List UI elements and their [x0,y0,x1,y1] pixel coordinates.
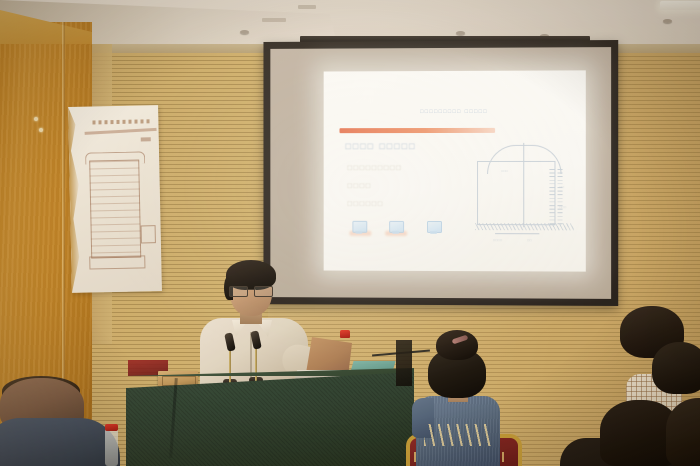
poster-detail-box [141,225,156,243]
sprinkler-1 [240,30,249,34]
computer-icon-base [355,231,362,234]
glasses-lens-right [254,286,273,297]
slide-body-line-3: □□□□□□ [347,199,384,208]
diagram-right-ticks [549,169,554,225]
slide-heading: □□□□ □□□□□ [345,141,416,151]
computer-icon-2 [389,221,402,234]
diagram-label-3: □□□□ [493,238,502,242]
wall-poster [68,105,162,293]
slide-title: □□□□□□□□□ □□□□□ [324,109,586,116]
diagram-label-1: □□□ [501,169,508,173]
diagram-label-2: □□ [560,185,565,189]
water-bottle-cap [105,424,118,431]
sprinkler-4 [456,31,465,35]
poster-mark [141,137,151,141]
slide-body-line-2: □□□□ [347,181,371,190]
sprinkler-3 [663,19,672,23]
audience-woman-hair-bun [436,330,478,360]
diagram-label-5: □□□ [560,205,567,209]
computer-icon-base [392,231,399,234]
poster-title-line [92,119,152,124]
photo-scene: □□□□□□□□□ □□□□□ □□□□ □□□□□ □□□□□□□□□ □□□… [0,0,700,466]
column-fixing-2 [39,128,43,132]
audience-left-man-body [0,418,120,466]
glasses-icon [229,286,273,295]
diagram-ground-hatch [475,223,574,230]
computer-icon-1 [352,221,365,234]
presentation-slide: □□□□□□□□□ □□□□□ □□□□ □□□□□ □□□□□□□□□ □□□… [324,70,586,271]
audience-right-head-2 [652,342,700,394]
audience-edge-figure [396,340,412,386]
diagram-chamber [477,161,555,225]
diagram-dim-line [495,233,539,234]
slide-body-line-1: □□□□□□□□□ [347,163,402,172]
diagram-centerline [523,143,524,227]
audience-woman-vest-lettering [424,424,492,446]
glasses-lens-left [229,286,248,297]
diagram-label-4: □□ [527,238,532,242]
recessed-light-1 [660,1,700,10]
diagram-right-ticks-2 [558,169,563,225]
computer-icon-3 [427,221,440,234]
engineering-cross-section-diagram: □□□ □□ □□□□ □□ □□□ [471,139,578,248]
slide-accent-bar [340,128,496,133]
ceiling-vent-2 [298,5,316,9]
poster-rule [85,128,157,135]
laptop-indicator [340,330,350,338]
column-fixing-1 [34,117,38,121]
water-bottle [105,428,118,466]
ceiling-vent-1 [262,18,286,22]
poster-building-sketch [89,159,141,258]
computer-icon-base [430,231,437,234]
